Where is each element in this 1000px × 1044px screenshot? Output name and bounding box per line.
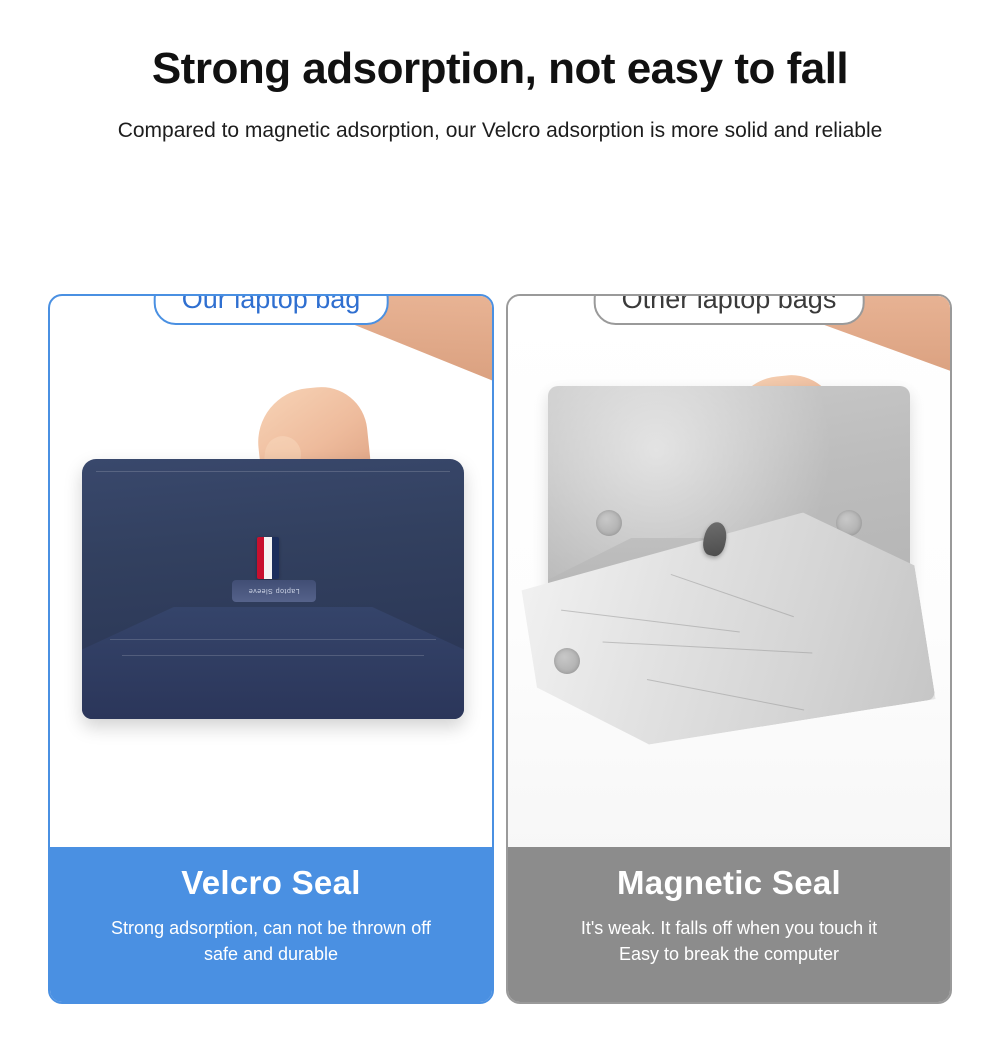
photo-other-bag	[508, 296, 950, 851]
comparison-section: Our laptop bag Laptop Sleeve Velcro Seal	[48, 294, 952, 1004]
band-others: Magnetic Seal It's weak. It falls off wh…	[508, 847, 950, 1002]
product-navy-laptop-bag: Laptop Sleeve	[82, 459, 464, 719]
panel-our-laptop-bag: Our laptop bag Laptop Sleeve Velcro Seal	[48, 294, 494, 1004]
scratch-mark	[603, 641, 813, 653]
band-title-others: Magnetic Seal	[508, 865, 950, 901]
page-subhead: Compared to magnetic adsorption, our Vel…	[0, 117, 1000, 144]
band-sub-ours-line2: safe and durable	[50, 941, 492, 967]
panel-title-others: Other laptop bags	[594, 294, 865, 325]
bag-flap-seam-1	[110, 639, 436, 640]
panel-other-laptop-bags: Other laptop bags	[506, 294, 952, 1004]
scratch-mark	[671, 574, 794, 617]
band-ours: Velcro Seal Strong adsorption, can not b…	[50, 847, 492, 1002]
band-sub-others-line2: Easy to break the computer	[508, 941, 950, 967]
band-sub-others-line1: It's weak. It falls off when you touch i…	[508, 915, 950, 941]
band-sub-ours-line1: Strong adsorption, can not be thrown off	[50, 915, 492, 941]
brand-label-tag: Laptop Sleeve	[232, 580, 316, 602]
bag-flap	[82, 607, 464, 719]
scratch-mark	[647, 679, 804, 711]
panel-title-ours: Our laptop bag	[154, 294, 389, 325]
page-headline: Strong adsorption, not easy to fall	[0, 44, 1000, 95]
photo-our-bag: Laptop Sleeve	[50, 296, 492, 851]
scratch-mark	[561, 610, 740, 633]
band-title-ours: Velcro Seal	[50, 865, 492, 901]
bag-flap-seam-2	[122, 655, 424, 656]
magnet-dot-bottom	[554, 648, 580, 674]
bag-seam	[96, 471, 450, 472]
tricolor-ribbon	[257, 537, 279, 579]
magnet-dot-left	[596, 510, 622, 536]
